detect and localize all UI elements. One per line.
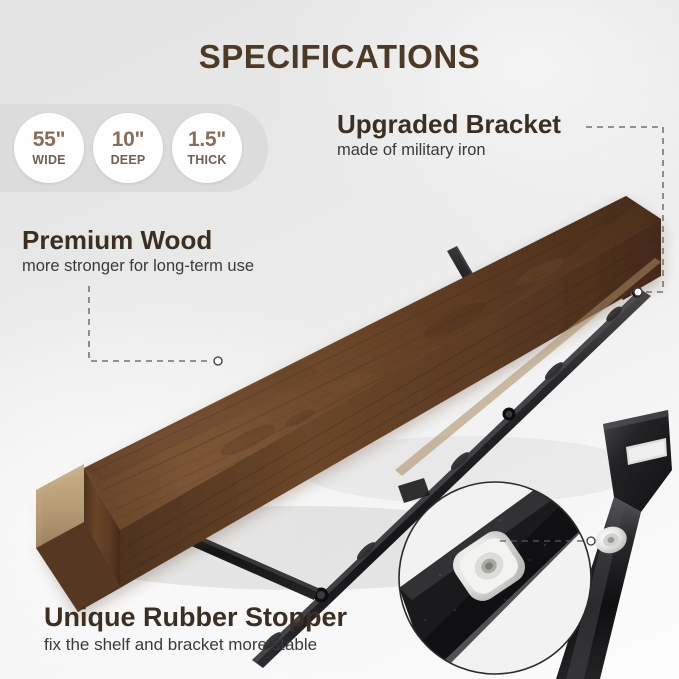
callout-stopper-title: Unique Rubber Stopper [44,603,347,632]
badge-thickness-label: THICK [187,154,226,167]
badge-depth-label: DEEP [111,154,146,167]
specifications-infographic: SPECIFICATIONS 55" WIDE 10" DEEP 1.5" TH… [0,0,679,679]
badge-width-label: WIDE [32,154,65,167]
callout-rubber-stopper: Unique Rubber Stopper fix the shelf and … [44,603,347,655]
callout-bracket-title: Upgraded Bracket [337,110,561,138]
callout-wood-title: Premium Wood [22,226,254,254]
callout-wood-subtitle: more stronger for long-term use [22,257,254,276]
badge-depth: 10" DEEP [93,113,163,183]
badge-thickness-value: 1.5" [188,129,226,150]
product-illustration [0,0,679,679]
badge-width-value: 55" [33,129,65,150]
callout-upgraded-bracket: Upgraded Bracket made of military iron [337,110,561,160]
rubber-stopper-closeup [399,482,591,674]
badge-width: 55" WIDE [14,113,84,183]
callout-bracket-subtitle: made of military iron [337,141,561,160]
callout-premium-wood: Premium Wood more stronger for long-term… [22,226,254,276]
callout-stopper-subtitle: fix the shelf and bracket more stable [44,635,347,655]
page-title: SPECIFICATIONS [0,38,679,76]
spec-badge-group: 55" WIDE 10" DEEP 1.5" THICK [0,104,268,192]
badge-depth-value: 10" [112,129,144,150]
badge-thickness: 1.5" THICK [172,113,242,183]
